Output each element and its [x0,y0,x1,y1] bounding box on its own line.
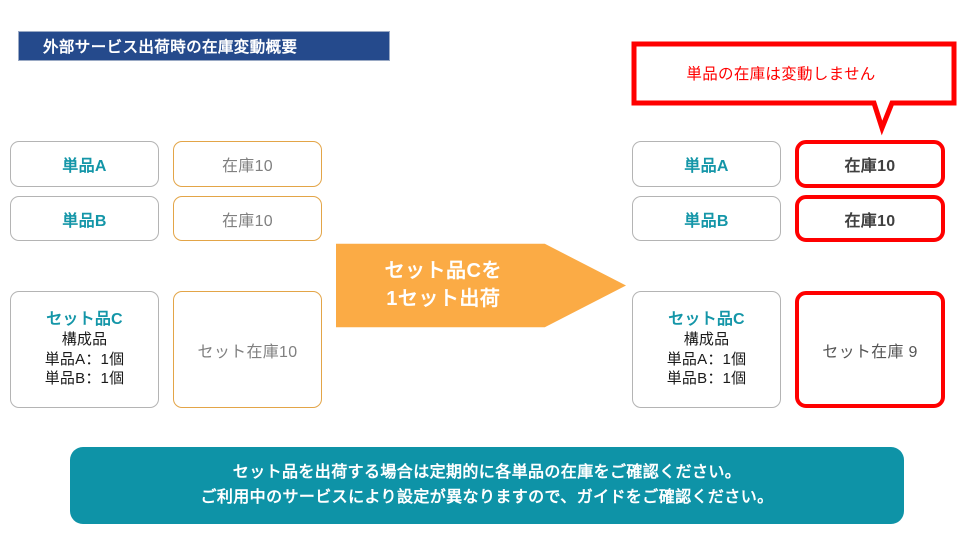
before-item-b-box: 単品B [10,196,159,241]
after-set-product-line-3: 単品B：1個 [667,369,747,389]
after-item-b-box: 単品B [632,196,781,241]
after-item-a-stock-box: 在庫10 [795,140,945,188]
before-item-a-stock-value: 在庫10 [222,152,273,176]
footer-note-line-2: ご利用中のサービスにより設定が異なりますので、ガイドをご確認ください。 [200,486,773,511]
before-set-stock-box: セット在庫10 [173,291,322,408]
page-title: 外部サービス出荷時の在庫変動概要 [19,35,297,57]
after-set-product-line-1: 構成品 [684,330,730,350]
after-item-a-box: 単品A [632,141,781,187]
shipment-arrow: セット品Cを 1セット出荷 [336,237,626,334]
after-item-b-stock-box: 在庫10 [795,195,945,242]
before-item-a-label: 単品A [62,152,106,176]
before-set-product-line-3: 単品B：1個 [45,369,125,389]
after-set-stock-box: セット在庫 9 [795,291,945,408]
after-set-product-title: セット品C [668,310,745,330]
slide-title-bar: 外部サービス出荷時の在庫変動概要 [18,31,390,61]
slide-canvas: 外部サービス出荷時の在庫変動概要 単品A 単品B 在庫10 在庫10 セット品C… [0,0,960,540]
after-item-b-stock-value: 在庫10 [845,207,896,231]
before-set-product-line-2: 単品A：1個 [45,350,125,370]
before-set-product-box: セット品C 構成品 単品A：1個 単品B：1個 [10,291,159,408]
before-item-a-box: 単品A [10,141,159,187]
before-item-b-stock-box: 在庫10 [173,196,322,241]
before-set-product-line-1: 構成品 [62,330,108,350]
after-item-a-label: 単品A [684,152,728,176]
before-set-product-title: セット品C [46,310,123,330]
after-set-stock-value: セット在庫 9 [822,338,917,362]
footer-note-line-1: セット品を出荷する場合は定期的に各単品の在庫をご確認ください。 [233,461,741,486]
shipment-arrow-line-1: セット品Cを [385,258,502,285]
before-item-a-stock-box: 在庫10 [173,141,322,187]
after-set-product-box: セット品C 構成品 単品A：1個 単品B：1個 [632,291,781,408]
before-set-stock-value: セット在庫10 [198,338,298,362]
callout-bubble: 単品の在庫は変動しません [628,36,960,136]
shipment-arrow-line-2: 1セット出荷 [386,286,500,313]
after-item-a-stock-value: 在庫10 [845,152,896,176]
before-item-b-label: 単品B [62,207,106,231]
before-item-b-stock-value: 在庫10 [222,207,273,231]
footer-note-banner: セット品を出荷する場合は定期的に各単品の在庫をご確認ください。 ご利用中のサービ… [70,447,904,524]
callout-message: 単品の在庫は変動しません [642,42,920,104]
shipment-arrow-text: セット品Cを 1セット出荷 [336,237,551,334]
after-set-product-line-2: 単品A：1個 [667,350,747,370]
after-item-b-label: 単品B [684,207,728,231]
